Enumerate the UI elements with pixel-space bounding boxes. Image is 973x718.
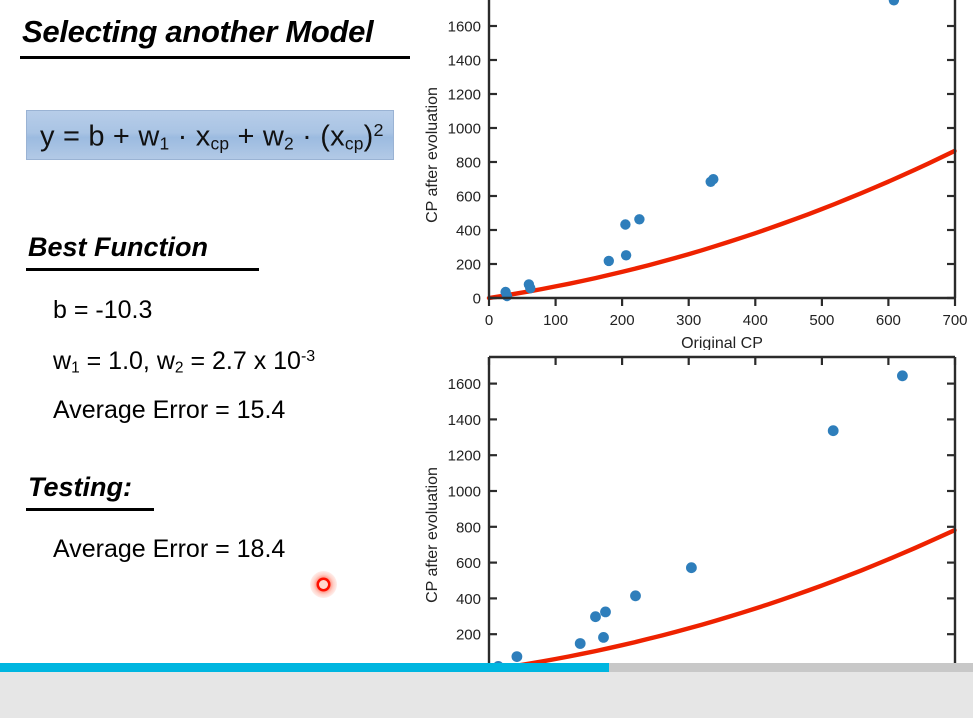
- data-point: [708, 174, 718, 184]
- svg-text:0: 0: [485, 312, 493, 329]
- formula-mid-2: + w: [229, 120, 284, 152]
- svg-text:200: 200: [456, 257, 481, 274]
- svg-text:1000: 1000: [448, 121, 481, 138]
- laser-pointer-dot: [310, 571, 337, 598]
- presentation-progress-fill[interactable]: [0, 663, 609, 672]
- svg-text:200: 200: [456, 627, 481, 644]
- bottom-taskbar: [0, 666, 973, 718]
- svg-text:300: 300: [676, 312, 701, 329]
- svg-text:800: 800: [456, 155, 481, 172]
- bullet-training-error: Average Error = 15.4: [53, 396, 285, 425]
- svg-text:1600: 1600: [448, 19, 481, 36]
- model-formula: y = b + w1 · xcp + w2 · (xcp)2: [40, 120, 384, 155]
- data-point: [575, 638, 586, 649]
- formula-sub-cp-1: cp: [210, 134, 229, 154]
- svg-text:0: 0: [473, 291, 481, 308]
- bullet-b-value: b = -10.3: [53, 296, 152, 325]
- training-plot-background: [489, 0, 955, 298]
- training-y-tick-labels: 0 200 400 600 800 1000 1200 1400 1600: [448, 19, 481, 308]
- formula-mid-1: · x: [169, 120, 210, 152]
- svg-text:1400: 1400: [448, 412, 481, 429]
- heading-testing-underline: [26, 508, 154, 511]
- svg-text:100: 100: [543, 312, 568, 329]
- formula-prefix: y = b + w: [40, 120, 159, 152]
- testing-y-axis-label: CP after evoluation: [424, 467, 441, 603]
- formula-mid-3: · (x: [294, 120, 345, 152]
- testing-y-tick-labels: 0 200 400 600 800 1000 1200 1400 1600: [448, 376, 481, 679]
- data-point: [525, 283, 535, 293]
- weights-prefix: w: [53, 347, 71, 375]
- formula-sub-1: 1: [159, 134, 169, 154]
- data-point: [897, 370, 908, 381]
- page-title-underline: [20, 56, 410, 59]
- svg-text:400: 400: [743, 312, 768, 329]
- training-x-ticks: [489, 298, 955, 306]
- formula-exponent: 2: [373, 120, 383, 140]
- svg-text:1200: 1200: [448, 87, 481, 104]
- svg-text:1000: 1000: [448, 484, 481, 501]
- formula-sub-2: 2: [284, 134, 294, 154]
- data-point: [502, 291, 512, 301]
- svg-text:400: 400: [456, 591, 481, 608]
- bullet-testing-error: Average Error = 18.4: [53, 535, 285, 564]
- svg-text:600: 600: [456, 555, 481, 572]
- testing-plot-background: [489, 357, 955, 670]
- training-chart: 0 200 400 600 800 1000 1200 1400 1600 0 …: [415, 0, 973, 350]
- training-chart-svg: 0 200 400 600 800 1000 1200 1400 1600 0 …: [415, 0, 973, 350]
- data-point: [621, 250, 631, 260]
- weights-tail: = 2.7 x 10: [184, 347, 301, 375]
- data-point: [686, 562, 697, 573]
- heading-testing: Testing:: [28, 472, 132, 503]
- data-point: [634, 214, 644, 224]
- weights-sub-2: 2: [175, 360, 184, 377]
- data-point: [630, 590, 641, 601]
- svg-text:600: 600: [876, 312, 901, 329]
- data-point: [604, 256, 614, 266]
- data-point: [828, 425, 839, 436]
- weights-exponent: -3: [301, 348, 315, 365]
- bullet-weights: w1 = 1.0, w2 = 2.7 x 10-3: [53, 347, 315, 378]
- svg-text:200: 200: [610, 312, 635, 329]
- data-point: [598, 632, 609, 643]
- svg-text:1200: 1200: [448, 448, 481, 465]
- formula-suffix: ): [364, 120, 374, 152]
- weights-mid: = 1.0, w: [80, 347, 175, 375]
- svg-text:1600: 1600: [448, 376, 481, 393]
- data-point: [620, 219, 630, 229]
- svg-text:800: 800: [456, 519, 481, 536]
- svg-text:700: 700: [942, 312, 967, 329]
- weights-sub-1: 1: [71, 360, 80, 377]
- training-x-tick-labels: 0 100 200 300 400 500 600 700: [485, 312, 968, 329]
- heading-best-function: Best Function: [28, 232, 208, 263]
- heading-best-function-underline: [26, 268, 259, 271]
- svg-text:400: 400: [456, 223, 481, 240]
- slide-canvas: Selecting another Model y = b + w1 · xcp…: [0, 0, 973, 718]
- page-title: Selecting another Model: [22, 14, 373, 50]
- training-x-axis-label: Original CP: [681, 335, 763, 350]
- svg-text:600: 600: [456, 189, 481, 206]
- data-point: [590, 611, 601, 622]
- formula-sub-cp-2: cp: [345, 134, 364, 154]
- data-point: [512, 651, 523, 662]
- svg-text:1400: 1400: [448, 53, 481, 70]
- data-point: [600, 607, 611, 618]
- svg-text:500: 500: [809, 312, 834, 329]
- training-y-axis-label: CP after evoluation: [424, 87, 441, 223]
